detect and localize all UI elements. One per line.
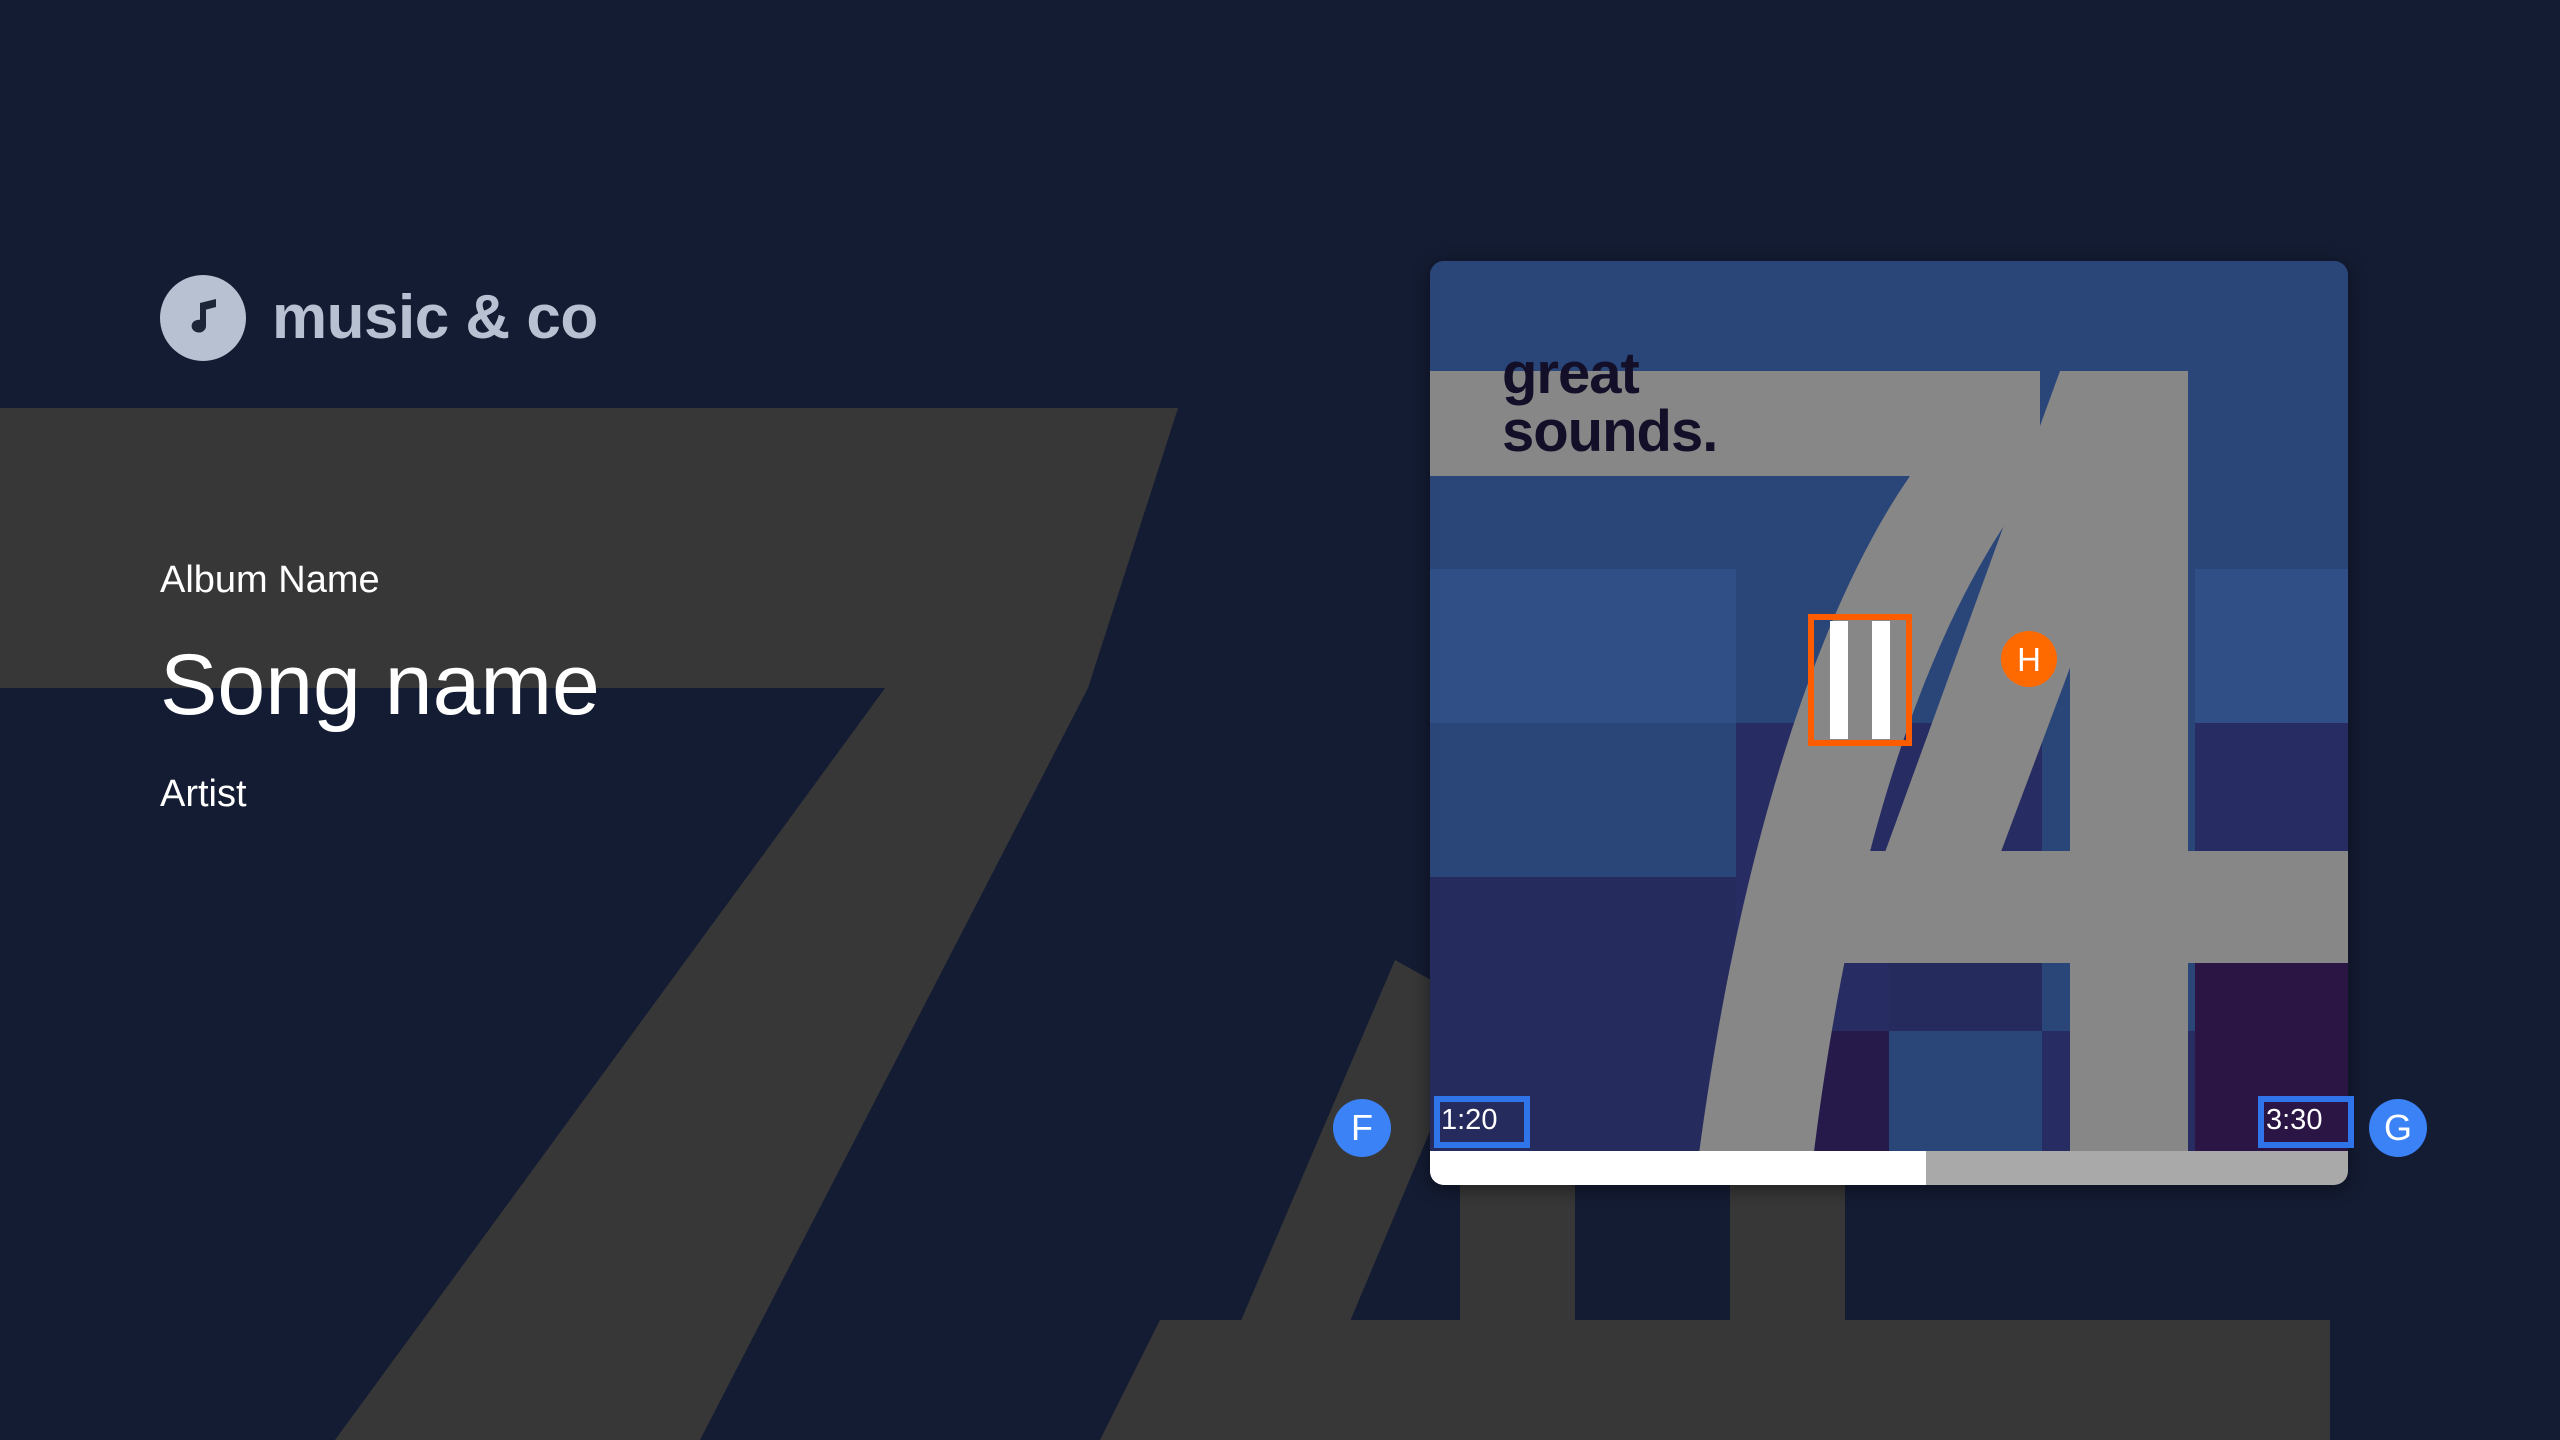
mosaic-tile	[2042, 877, 2195, 1031]
track-metadata: Album Name Song name Artist	[160, 560, 600, 816]
artist-name: Artist	[160, 774, 600, 816]
annotation-badge-f-label: F	[1351, 1110, 1373, 1146]
brand-logo[interactable]: music & co	[160, 275, 598, 361]
mosaic-tile	[2195, 723, 2348, 877]
progress-bar[interactable]	[1430, 1151, 2348, 1185]
music-player-screen: music & co Album Name Song name Artist g…	[0, 0, 2560, 1440]
mosaic-tile	[1889, 723, 2042, 877]
brand-name: music & co	[272, 287, 598, 349]
total-time: 3:30	[2266, 1106, 2322, 1135]
mosaic-tile	[2195, 569, 2348, 723]
song-name: Song name	[160, 640, 600, 730]
mosaic-tile	[1583, 723, 1736, 877]
pause-bar-right	[1872, 621, 1890, 739]
mosaic-tile	[2042, 569, 2195, 723]
annotation-badge-h: H	[2001, 631, 2057, 687]
mosaic-tile	[1430, 569, 1583, 723]
music-note-icon	[160, 275, 246, 361]
mosaic-tile	[1583, 877, 1736, 1031]
album-art-title: great sounds.	[1502, 345, 1717, 461]
mosaic-tile	[1583, 569, 1736, 723]
mosaic-tile	[1889, 877, 2042, 1031]
album-name: Album Name	[160, 560, 600, 602]
track-info-panel-notch	[1088, 408, 1178, 688]
progress-bar-fill	[1430, 1151, 1926, 1185]
album-art-title-line2: sounds.	[1502, 403, 1717, 461]
annotation-badge-g-label: G	[2384, 1110, 2412, 1146]
mosaic-tile	[1736, 877, 1889, 1031]
mosaic-tile	[1430, 723, 1583, 877]
mosaic-tile	[2042, 723, 2195, 877]
annotation-badge-g: G	[2369, 1099, 2427, 1157]
album-art-title-line1: great	[1502, 345, 1717, 403]
annotation-badge-f: F	[1333, 1099, 1391, 1157]
current-time: 1:20	[1441, 1106, 1497, 1135]
mosaic-tile	[2195, 877, 2348, 1031]
pause-bar-left	[1830, 621, 1848, 739]
mosaic-tile	[1430, 877, 1583, 1031]
mosaic-tile	[1736, 723, 1889, 877]
annotation-badge-h-label: H	[2017, 643, 2041, 676]
pause-button[interactable]	[1811, 616, 1909, 744]
